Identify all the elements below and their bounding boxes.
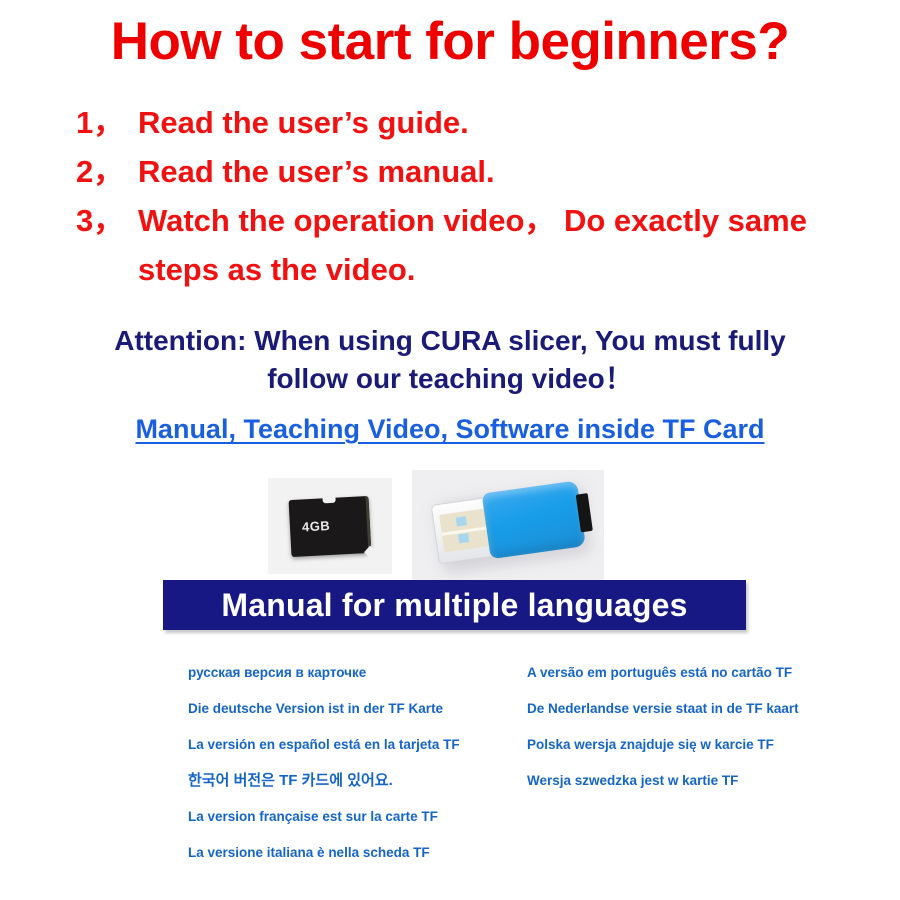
microsd-card-photo: 4GB [268,478,392,574]
language-item-portuguese: A versão em português está no cartão TF [527,655,867,691]
step-item-2: 2，Read the user’s manual. [76,147,886,196]
language-item-spanish: La versión en español está en la tarjeta… [188,727,518,763]
language-column-left: русская версия в карточке Die deutsche V… [188,655,518,871]
language-item-polish: Polska wersja znajduje się w karcie TF [527,727,867,763]
manual-languages-banner-label: Manual for multiple languages [221,587,687,624]
manual-languages-banner: Manual for multiple languages [163,580,746,630]
language-column-right: A versão em português está no cartão TF … [527,655,867,799]
step-text-3-continuation: steps as the video. [76,245,886,294]
steps-list: 1，Read the user’s guide. 2，Read the user… [76,98,886,294]
language-item-dutch: De Nederlandse versie staat in de TF kaa… [527,691,867,727]
step-number-2: 2， [76,147,138,196]
attention-line-1: Attention: When using CURA slicer, You m… [0,322,900,360]
step-number-1: 1， [76,98,138,147]
attention-notice: Attention: When using CURA slicer, You m… [0,322,900,398]
language-item-french: La version française est sur la carte TF [188,799,518,835]
attention-line-2: follow our teaching video！ [0,360,900,398]
language-item-russian: русская версия в карточке [188,655,518,691]
language-lists: русская версия в карточке Die deutsche V… [0,655,900,885]
step-number-3: 3， [76,196,138,245]
tf-card-contents-link[interactable]: Manual, Teaching Video, Software inside … [0,414,900,445]
step-text-2: Read the user’s manual. [138,154,495,189]
step-item-3: 3，Watch the operation video， Do exactly … [76,196,886,294]
usb-contact-pad-1 [456,516,467,526]
step-item-1: 1，Read the user’s guide. [76,98,886,147]
microsd-card-corner [364,546,377,559]
card-reader-blue-shell [482,480,586,559]
microsd-card-notch [322,497,335,504]
tf-card-contents-label: Manual, Teaching Video, Software inside … [135,414,764,444]
language-item-korean: 한국어 버전은 TF 카드에 있어요. [188,763,518,799]
page-title: How to start for beginners? [0,14,900,70]
language-item-german: Die deutsche Version ist in der TF Karte [188,691,518,727]
language-item-italian: La versione italiana è nella scheda TF [188,835,518,871]
language-item-swedish: Wersja szwedzka jest w kartie TF [527,763,867,799]
step-text-1: Read the user’s guide. [138,105,469,140]
usb-card-reader-photo [412,470,604,582]
usb-contact-pad-2 [458,533,469,543]
product-photos: 4GB [268,470,608,582]
product-info-page: How to start for beginners? 1，Read the u… [0,0,900,900]
step-text-3: Watch the operation video， Do exactly sa… [138,203,807,238]
microsd-capacity-label: 4GB [302,518,331,534]
microsd-card-body: 4GB [289,496,372,557]
usb-connector-icon [439,509,490,553]
